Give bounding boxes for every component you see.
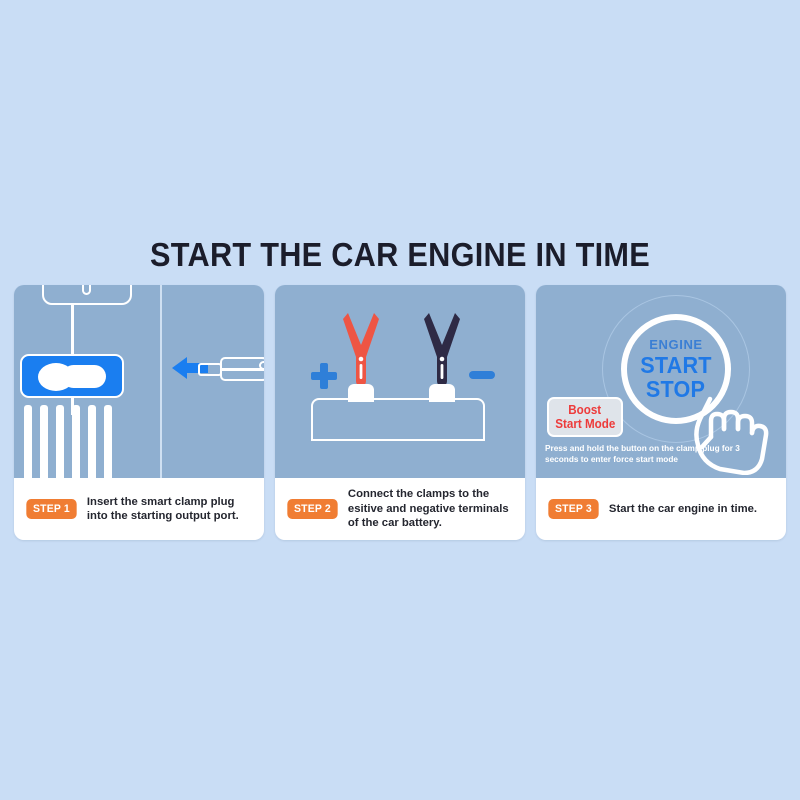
plug-detail-line [222,368,264,371]
press-hold-note: Press and hold the button on the clamp p… [545,443,775,465]
car-battery-icon [311,398,485,441]
vent-bar [104,405,112,478]
panel-divider [160,285,162,478]
step-3-caption: STEP 3 Start the car engine in time. [536,478,786,540]
step-card-2: STEP 2 Connect the clamps to the esitive… [275,285,525,540]
vent-bar [72,405,80,478]
boost-label-line2: Start Mode [555,417,615,431]
start-label: START [640,354,711,377]
positive-clamp-icon [341,311,381,387]
device-vents [24,405,118,478]
vent-bar [88,405,96,478]
vent-bar [40,405,48,478]
vent-bar [24,405,32,478]
step-3-text: Start the car engine in time. [609,502,757,516]
illustration-clamps-battery [275,285,525,478]
illustration-device-plug [14,285,264,478]
page-title: START THE CAR ENGINE IN TIME [28,236,772,274]
vent-bar [56,405,64,478]
step-2-caption: STEP 2 Connect the clamps to the esitive… [275,478,525,540]
port-socket-right [62,365,106,388]
step-1-text: Insert the smart clamp plug into the sta… [87,495,255,524]
boost-label-line1: Boost [569,403,602,417]
illustration-engine-button: ENGINE START STOP Boost Start Mode Press… [536,285,786,478]
step-2-text: Connect the clamps to the esitive and ne… [348,487,516,530]
output-port-icon [20,354,124,398]
boost-start-mode-badge: Boost Start Mode [547,397,623,437]
steps-row: STEP 1 Insert the smart clamp plug into … [14,285,786,540]
engine-label: ENGINE [649,338,702,351]
step-badge-3: STEP 3 [548,499,598,519]
device-button-nub-icon [82,285,91,295]
step-badge-2: STEP 2 [287,499,337,519]
negative-terminal-sign-icon [469,371,495,379]
plug-neck-icon [198,363,222,376]
step-card-1: STEP 1 Insert the smart clamp plug into … [14,285,264,540]
step-1-caption: STEP 1 Insert the smart clamp plug into … [14,478,264,540]
plug-indicator-dot-icon [259,361,264,370]
negative-clamp-icon [422,311,462,387]
step-badge-1: STEP 1 [26,499,76,519]
positive-terminal-sign-icon [311,363,337,389]
step-card-3: ENGINE START STOP Boost Start Mode Press… [536,285,786,540]
